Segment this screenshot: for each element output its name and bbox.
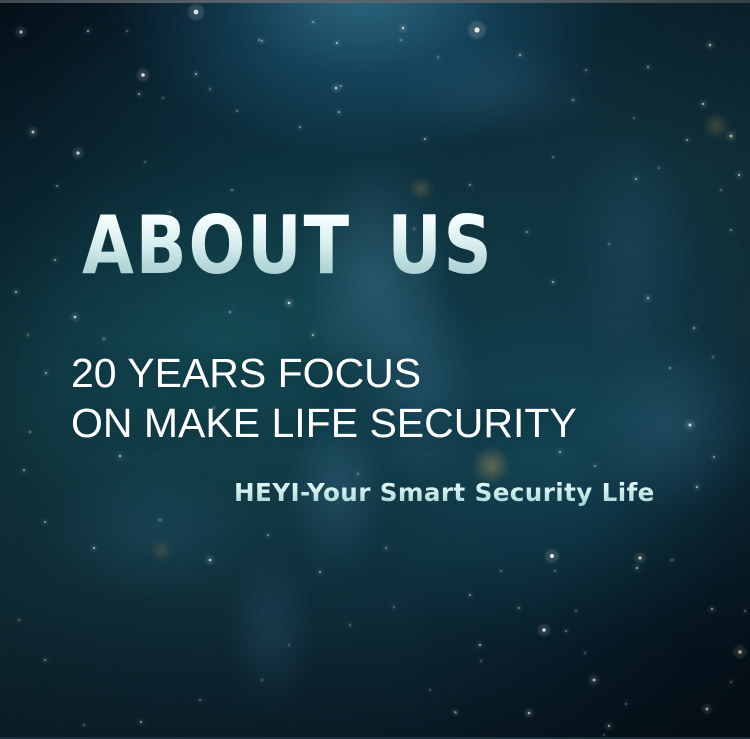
title-space xyxy=(351,199,387,292)
tagline: HEYI-Your Smart Security Life xyxy=(234,477,655,509)
about-us-banner: ABOUT US 20 YEARS FOCUS ON MAKE LIFE SEC… xyxy=(0,0,750,739)
subtitle-block: 20 YEARS FOCUS ON MAKE LIFE SECURITY xyxy=(71,348,577,448)
page-title: ABOUT US xyxy=(82,200,494,292)
subtitle-line-1: 20 YEARS FOCUS xyxy=(71,348,577,398)
banner-content: ABOUT US 20 YEARS FOCUS ON MAKE LIFE SEC… xyxy=(0,0,750,739)
title-word-us: US xyxy=(387,199,493,292)
subtitle-line-2: ON MAKE LIFE SECURITY xyxy=(71,398,577,448)
title-word-about: ABOUT xyxy=(82,199,351,292)
